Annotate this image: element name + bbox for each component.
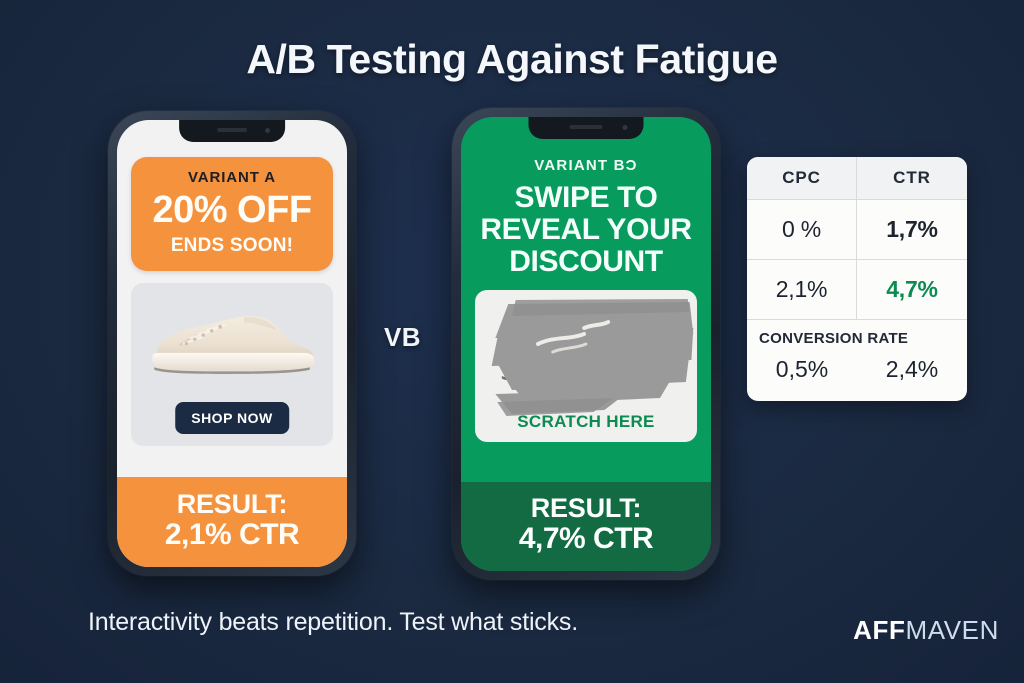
cell-ctr-row2-highlight: 4,7% xyxy=(857,260,967,319)
table-header-row: CPC CTR xyxy=(747,157,967,199)
phone-mockup-variant-b: VARIANT BƆ SWIPE TO REVEAL YOUR DISCOUNT xyxy=(452,108,720,580)
speaker-icon xyxy=(570,125,602,129)
conversion-rate-label: CONVERSION RATE xyxy=(747,320,967,350)
cell-conversion-b: 2,4% xyxy=(857,350,967,387)
phone-mockup-variant-a: VARIANT A 20% OFF ENDS SOON! xyxy=(108,111,356,576)
phone-a-screen: VARIANT A 20% OFF ENDS SOON! xyxy=(117,120,347,567)
cell-cpc-row1: 0 % xyxy=(747,200,857,259)
cell-conversion-a: 0,5% xyxy=(747,350,857,387)
logo-second-part: MAVEN xyxy=(905,615,999,645)
cell-cpc-row2: 2,1% xyxy=(747,260,857,319)
variant-b-badge: VARIANT BƆ xyxy=(461,157,711,174)
footer-tagline: Interactivity beats repetition. Test wha… xyxy=(88,608,578,637)
scratch-here-label: SCRATCH HERE xyxy=(475,412,697,432)
phone-notch-icon xyxy=(529,117,644,139)
phone-notch-icon xyxy=(179,120,285,142)
variant-a-offer-subtext: ENDS SOON! xyxy=(139,235,325,257)
cell-ctr-row1: 1,7% xyxy=(857,200,967,259)
brand-logo: AFFMAVEN xyxy=(853,615,999,646)
variant-a-offer-headline: 20% OFF xyxy=(139,190,325,232)
shop-now-button[interactable]: SHOP NOW xyxy=(175,402,289,434)
variant-a-badge: VARIANT A xyxy=(139,169,325,186)
variant-b-result-value: 4,7% CTR xyxy=(461,522,711,555)
table-row: 0 % 1,7% xyxy=(747,199,967,259)
speaker-icon xyxy=(217,128,247,132)
versus-badge: VB xyxy=(384,322,421,353)
variant-a-result-band: RESULT: 2,1% CTR xyxy=(117,477,347,567)
conversion-rate-values-row: 0,5% 2,4% xyxy=(747,350,967,401)
variant-a-result-value: 2,1% CTR xyxy=(117,518,347,551)
variant-a-product-card: SHOP NOW xyxy=(131,283,333,446)
phone-b-screen: VARIANT BƆ SWIPE TO REVEAL YOUR DISCOUNT xyxy=(461,117,711,571)
table-header-ctr: CTR xyxy=(857,157,967,199)
infographic-canvas: A/B Testing Against Fatigue VARIANT A 20… xyxy=(0,0,1024,683)
logo-first-part: AFF xyxy=(853,615,905,645)
conversion-rate-section: CONVERSION RATE 0,5% 2,4% xyxy=(747,319,967,401)
variant-a-promo-card: VARIANT A 20% OFF ENDS SOON! xyxy=(131,157,333,271)
table-header-cpc: CPC xyxy=(747,157,857,199)
sneaker-image xyxy=(139,295,325,387)
table-row: 2,1% 4,7% xyxy=(747,259,967,319)
camera-icon xyxy=(265,128,270,133)
variant-b-headline: SWIPE TO REVEAL YOUR DISCOUNT xyxy=(471,182,701,277)
camera-icon xyxy=(622,125,627,130)
variant-b-result-label: RESULT: xyxy=(461,494,711,522)
variant-a-result-label: RESULT: xyxy=(117,490,347,518)
metrics-table: CPC CTR 0 % 1,7% 2,1% 4,7% CONVERSION RA… xyxy=(747,157,967,401)
page-title: A/B Testing Against Fatigue xyxy=(0,36,1024,83)
variant-b-result-band: RESULT: 4,7% CTR xyxy=(461,482,711,571)
scratch-card[interactable]: SCRATCH HERE xyxy=(475,290,697,442)
